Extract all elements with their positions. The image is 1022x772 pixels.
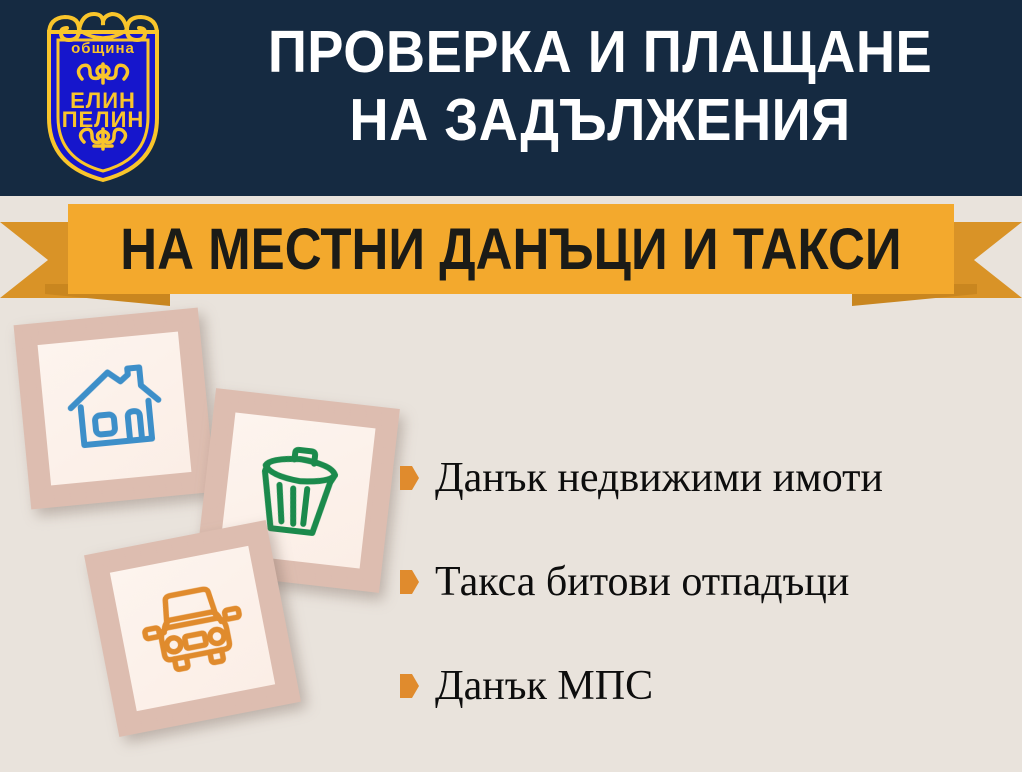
ribbon-banner: НА МЕСТНИ ДАНЪЦИ И ТАКСИ: [0, 196, 1022, 312]
coat-of-arms-icon: община ЕЛИН ПЕЛИН: [22, 8, 184, 186]
bullet-arrow-icon: [400, 570, 419, 594]
title-line-2: НА ЗАДЪЛЖЕНИЯ: [223, 86, 977, 154]
list-item: Такса битови отпадъци: [400, 530, 1010, 634]
stamp-inner-property: [38, 332, 192, 486]
poster-canvas: община ЕЛИН ПЕЛИН ПРОВЕРКА И ПЛАЩАНЕ НА …: [0, 0, 1022, 772]
stamp-inner-vehicle: [110, 546, 275, 711]
stamp-card-property: [14, 308, 216, 510]
car-icon: [134, 578, 250, 680]
list-item: Данък недвижими имоти: [400, 426, 1010, 530]
municipality-logo: община ЕЛИН ПЕЛИН: [22, 8, 184, 186]
list-item: Данък МПС: [400, 634, 1010, 738]
logo-text-pelin: ПЕЛИН: [62, 107, 145, 132]
house-icon: [63, 361, 167, 456]
ribbon-band: НА МЕСТНИ ДАНЪЦИ И ТАКСИ: [68, 204, 954, 294]
page-title: ПРОВЕРКА И ПЛАЩАНЕ НА ЗАДЪЛЖЕНИЯ: [190, 18, 1010, 154]
list-item-label: Данък МПС: [435, 665, 653, 707]
list-item-label: Данък недвижими имоти: [435, 457, 883, 499]
tax-type-list: Данък недвижими имоти Такса битови отпад…: [400, 426, 1010, 738]
stamp-card-vehicle: [84, 520, 301, 737]
list-item-label: Такса битови отпадъци: [435, 561, 849, 603]
ribbon-label: НА МЕСТНИ ДАНЪЦИ И ТАКСИ: [120, 216, 901, 283]
title-line-1: ПРОВЕРКА И ПЛАЩАНЕ: [223, 18, 977, 86]
logo-text-obshtina: община: [71, 40, 135, 57]
header-banner: община ЕЛИН ПЕЛИН ПРОВЕРКА И ПЛАЩАНЕ НА …: [0, 0, 1022, 196]
bullet-arrow-icon: [400, 466, 419, 490]
bullet-arrow-icon: [400, 674, 419, 698]
